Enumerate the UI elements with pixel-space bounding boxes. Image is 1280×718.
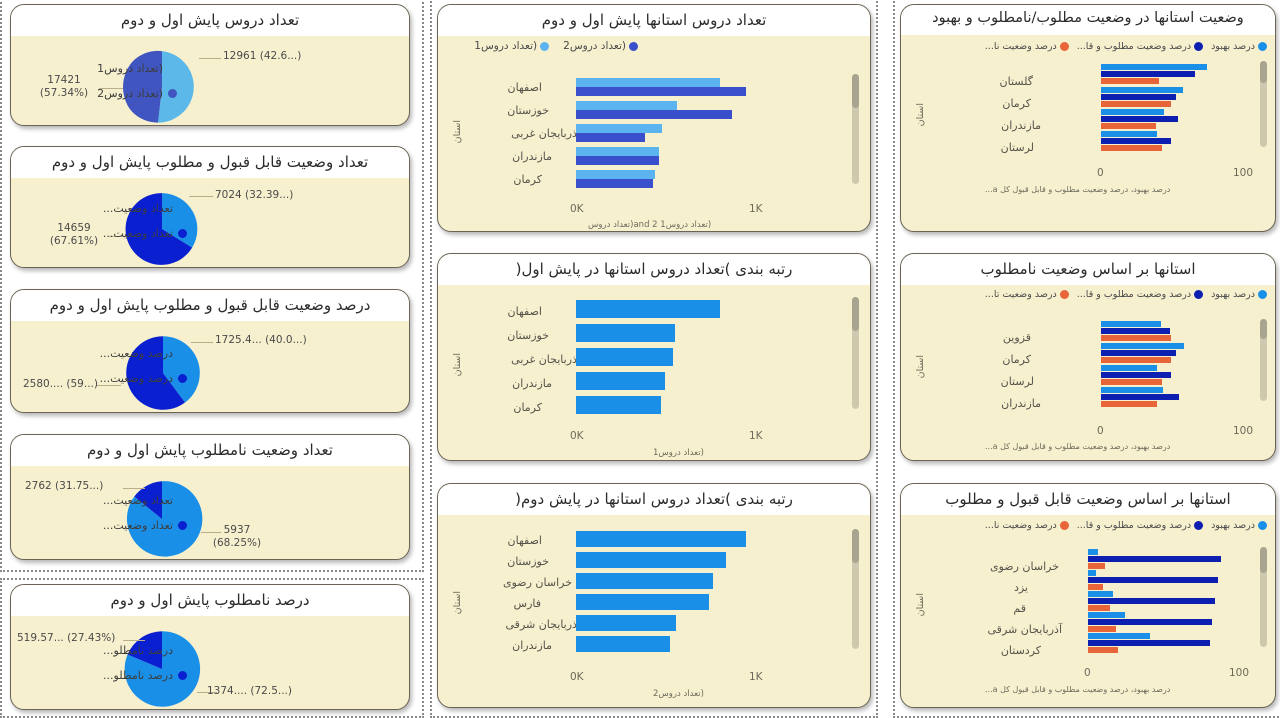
bar-favorable[interactable] bbox=[1088, 556, 1221, 562]
card-body: درصد بهبود درصد وضعیت مطلوب و قا... درصد… bbox=[901, 35, 1275, 209]
bar-unfavorable[interactable] bbox=[1088, 605, 1110, 611]
bar-item[interactable] bbox=[576, 531, 746, 547]
plot-area: قزوین کرمان لرستان مازندران bbox=[901, 321, 1276, 417]
card-title: رتبه بندی )تعداد دروس استانها در پایش دو… bbox=[438, 484, 870, 515]
card-body: 2762 (31.75...) 5937(68.25%) تعداد وضعیت… bbox=[11, 466, 409, 558]
pie-slice-callout-2: 17421(57.34%) bbox=[33, 74, 95, 100]
legend-item[interactable]: درصد نامطلو... bbox=[103, 669, 187, 682]
legend-item[interactable]: تعداد وضعیت... bbox=[103, 202, 187, 215]
x-axis-title: (تعداد دروس1 bbox=[653, 448, 704, 458]
bar-unfavorable[interactable] bbox=[1088, 584, 1103, 590]
legend-item[interactable]: درصد وضعیت مطلوب و قا... bbox=[1077, 41, 1203, 52]
category-label: خوزستان bbox=[507, 555, 549, 568]
category-label: خراسان رضوی bbox=[503, 576, 572, 589]
scrollbar-thumb[interactable] bbox=[852, 529, 859, 563]
card-pie-unfavorable-percent[interactable]: درصد نامطلوب پایش اول و دوم 519.57... (2… bbox=[10, 584, 410, 710]
scrollbar-thumb[interactable] bbox=[852, 297, 859, 331]
category-label: کرمان bbox=[1002, 97, 1031, 110]
plot-area: اصفهان خوزستان آذربایجان غربی مازندران ک… bbox=[438, 76, 871, 196]
card-body: (تعداد دروس2 (تعداد دروس1 استان اصفهان خ… bbox=[438, 36, 870, 230]
bar-item[interactable] bbox=[576, 324, 675, 342]
card-title: تعداد وضعیت نامطلوب پایش اول و دوم bbox=[11, 435, 409, 466]
legend-label: تعداد وضعیت... bbox=[103, 227, 173, 240]
vertical-scrollbar[interactable] bbox=[1260, 547, 1267, 647]
card-title: رتبه بندی )تعداد دروس استانها در پایش او… bbox=[438, 254, 870, 285]
x-tick-label: 0K bbox=[570, 430, 584, 442]
card-body: استان اصفهان خوزستان خراسان رضوی فارس آذ… bbox=[438, 515, 870, 706]
card-bar-rank-first-monitoring[interactable]: رتبه بندی )تعداد دروس استانها در پایش او… bbox=[437, 253, 871, 461]
bar-unfavorable[interactable] bbox=[1101, 335, 1171, 341]
legend-color-dot-light-blue bbox=[168, 64, 177, 73]
legend-item[interactable]: درصد وضعیت نا... bbox=[985, 520, 1069, 531]
bar-series1[interactable] bbox=[576, 78, 720, 87]
bar-favorable[interactable] bbox=[1101, 372, 1171, 378]
card-pie-acceptable-percent[interactable]: درصد وضعیت قابل قبول و مطلوب پایش اول و … bbox=[10, 289, 410, 413]
bar-series1[interactable] bbox=[576, 147, 659, 156]
legend-item[interactable]: درصد وضعیت تا... bbox=[985, 289, 1069, 300]
card-title: درصد وضعیت قابل قبول و مطلوب پایش اول و … bbox=[11, 290, 409, 321]
bar-item[interactable] bbox=[576, 615, 676, 631]
category-label: آذربایجان غربی bbox=[511, 127, 580, 140]
card-body: 519.57... (27.43%) 1374.... (72.5...) در… bbox=[11, 616, 409, 708]
legend-item[interactable]: (تعداد دروس1 bbox=[97, 62, 177, 75]
legend-label: درصد بهبود bbox=[1211, 289, 1255, 300]
category-label: کرمان bbox=[1002, 353, 1031, 366]
legend-label: درصد بهبود bbox=[1211, 520, 1255, 531]
legend-color-dot-blue bbox=[1258, 521, 1267, 530]
x-tick-label: 0K bbox=[570, 203, 584, 215]
category-label: لرستان bbox=[1001, 141, 1034, 154]
legend-color-dot-blue bbox=[178, 646, 187, 655]
legend-label: (تعداد دروس1 bbox=[474, 40, 537, 52]
category-label: خراسان رضوی bbox=[990, 560, 1059, 573]
category-label: مازندران bbox=[512, 639, 552, 652]
pie-slice-callout-2: 14659(67.61%) bbox=[43, 222, 105, 248]
card-bar-provinces-acceptable[interactable]: استانها بر اساس وضعیت قابل قبول و مطلوب … bbox=[900, 483, 1276, 708]
legend-color-dot-orange bbox=[1060, 290, 1069, 299]
bar-improve[interactable] bbox=[1101, 365, 1157, 371]
bar-series2[interactable] bbox=[576, 156, 659, 165]
category-label: اصفهان bbox=[508, 81, 542, 94]
legend-item[interactable]: (تعداد دروس2 bbox=[563, 40, 638, 52]
card-body: استان اصفهان خوزستان آذربایجان غربی مازن… bbox=[438, 285, 870, 459]
pie-slice-callout-2: 519.57... (27.43%) bbox=[17, 632, 115, 645]
bar-item[interactable] bbox=[576, 396, 661, 414]
legend-color-dot-blue bbox=[178, 349, 187, 358]
scrollbar-thumb[interactable] bbox=[1260, 319, 1267, 339]
category-label: کرمان bbox=[513, 401, 542, 414]
legend-label: درصد وضعیت... bbox=[100, 372, 173, 385]
card-body: 7024 (32.39...) 14659(67.61%) تعداد وضعی… bbox=[11, 178, 409, 266]
legend-label: درصد نامطلو... bbox=[103, 644, 173, 657]
category-label: اصفهان bbox=[508, 305, 542, 318]
category-label: خوزستان bbox=[507, 104, 549, 117]
plot-area: گلستان کرمان مازندران لرستان bbox=[901, 63, 1276, 159]
card-title: تعداد دروس پایش اول و دوم bbox=[11, 5, 409, 36]
pie-slice-callout-2: 2580.... (59...) bbox=[23, 378, 98, 391]
bar-series1[interactable] bbox=[576, 170, 655, 179]
card-bar-status-overview[interactable]: وضعیت استانها در وضعیت مطلوب/نامطلوب و ب… bbox=[900, 4, 1276, 232]
bar-favorable[interactable] bbox=[1101, 350, 1176, 356]
bar-item[interactable] bbox=[576, 636, 670, 652]
bar-favorable[interactable] bbox=[1101, 394, 1179, 400]
legend-item[interactable]: (تعداد دروس2 bbox=[97, 87, 177, 100]
vertical-scrollbar[interactable] bbox=[852, 74, 859, 184]
card-title: استانها بر اساس وضعیت قابل قبول و مطلوب bbox=[901, 484, 1275, 515]
bar-improve[interactable] bbox=[1101, 87, 1183, 93]
bar-unfavorable[interactable] bbox=[1101, 101, 1171, 107]
bar-improve[interactable] bbox=[1088, 612, 1125, 618]
card-body: درصد بهبود درصد وضعیت مطلوب و قا... درصد… bbox=[901, 515, 1275, 706]
pie-leader-line bbox=[123, 488, 145, 489]
plot-area: اصفهان خوزستان خراسان رضوی فارس آذربایجا… bbox=[438, 531, 871, 661]
category-label: آذربایجان غربی bbox=[511, 353, 580, 366]
pie-leader-line bbox=[123, 640, 145, 641]
category-label: قم bbox=[1013, 602, 1026, 615]
legend-label: تعداد وضعیت... bbox=[103, 494, 173, 507]
scrollbar-thumb[interactable] bbox=[1260, 61, 1267, 83]
card-bar-provinces-grouped[interactable]: تعداد دروس استانها پایش اول و دوم (تعداد… bbox=[437, 4, 871, 232]
x-tick-label: 0K bbox=[570, 671, 584, 683]
bar-improve[interactable] bbox=[1101, 109, 1164, 115]
bar-series2[interactable] bbox=[576, 133, 645, 142]
pie-leader-line bbox=[199, 58, 221, 59]
chart-legend[interactable]: درصد بهبود درصد وضعیت مطلوب و قا... درصد… bbox=[901, 515, 1275, 531]
legend-color-dot-navy bbox=[1194, 290, 1203, 299]
legend-item[interactable]: درصد بهبود bbox=[1211, 520, 1267, 531]
bar-favorable[interactable] bbox=[1101, 328, 1170, 334]
pie-slice-callout-1: 7024 (32.39...) bbox=[215, 189, 293, 202]
chart-legend[interactable]: (تعداد دروس2 (تعداد دروس1 bbox=[438, 36, 870, 52]
category-label: کردستان bbox=[1001, 644, 1041, 657]
legend-label: تعداد وضعیت... bbox=[103, 202, 173, 215]
bar-unfavorable[interactable] bbox=[1101, 401, 1157, 407]
x-tick-label: 1K bbox=[749, 671, 763, 683]
x-tick-label: 1K bbox=[749, 430, 763, 442]
pie-slice-callout-1: 5937(68.25%) bbox=[207, 524, 267, 550]
bar-unfavorable[interactable] bbox=[1088, 563, 1105, 569]
legend-color-dot-blue bbox=[1258, 290, 1267, 299]
scrollbar-thumb[interactable] bbox=[1260, 547, 1267, 573]
bar-improve[interactable] bbox=[1088, 591, 1113, 597]
card-pie-total-courses[interactable]: تعداد دروس پایش اول و دوم 12961 (42.6...… bbox=[10, 4, 410, 126]
bar-favorable[interactable] bbox=[1088, 598, 1215, 604]
legend-color-dot-orange bbox=[1060, 42, 1069, 51]
legend-label: درصد وضعیت نا... bbox=[985, 41, 1057, 52]
x-tick-label: 100 bbox=[1229, 667, 1249, 679]
legend-item[interactable]: تعداد وضعیت... bbox=[103, 494, 187, 507]
bar-improve[interactable] bbox=[1101, 321, 1161, 327]
card-body: 12961 (42.6...) 17421(57.34%) (تعداد درو… bbox=[11, 36, 409, 124]
legend-color-dot-navy bbox=[1194, 42, 1203, 51]
card-body: 1725.4... (40.0...) 2580.... (59...) درص… bbox=[11, 321, 409, 411]
legend-color-dot-navy bbox=[1194, 521, 1203, 530]
card-title: درصد نامطلوب پایش اول و دوم bbox=[11, 585, 409, 616]
x-axis-title: درصد بهبود، درصد وضعیت مطلوب و قابل قبول… bbox=[985, 685, 1170, 694]
x-tick-label: 1K bbox=[749, 203, 763, 215]
legend-label: درصد وضعیت نا... bbox=[985, 520, 1057, 531]
card-bar-rank-second-monitoring[interactable]: رتبه بندی )تعداد دروس استانها در پایش دو… bbox=[437, 483, 871, 708]
legend-label: (تعداد دروس2 bbox=[563, 40, 626, 52]
card-title: استانها بر اساس وضعیت نامطلوب bbox=[901, 254, 1275, 285]
bar-series2[interactable] bbox=[576, 110, 732, 119]
bar-unfavorable[interactable] bbox=[1101, 145, 1162, 151]
bar-series2[interactable] bbox=[576, 179, 653, 188]
bar-unfavorable[interactable] bbox=[1101, 379, 1162, 385]
legend-item[interactable]: درصد وضعیت نا... bbox=[985, 41, 1069, 52]
bar-favorable[interactable] bbox=[1101, 71, 1195, 77]
x-tick-label: 0 bbox=[1097, 425, 1104, 437]
category-label: گلستان bbox=[1000, 75, 1033, 88]
bar-improve[interactable] bbox=[1101, 343, 1184, 349]
bar-improve[interactable] bbox=[1088, 633, 1150, 639]
legend-color-dot-deep-blue bbox=[178, 229, 187, 238]
legend-item[interactable]: درصد وضعیت... bbox=[100, 372, 187, 385]
legend-color-dot-light-blue bbox=[540, 42, 549, 51]
legend-item[interactable]: تعداد وضعیت... bbox=[103, 519, 187, 532]
category-label: فارس bbox=[514, 597, 541, 610]
dashboard-canvas: تعداد دروس پایش اول و دوم 12961 (42.6...… bbox=[0, 0, 1280, 716]
bar-unfavorable[interactable] bbox=[1088, 647, 1118, 653]
bar-unfavorable[interactable] bbox=[1101, 123, 1156, 129]
chart-legend[interactable]: درصد بهبود درصد وضعیت مطلوب و قا... درصد… bbox=[901, 35, 1275, 52]
bar-improve[interactable] bbox=[1101, 64, 1207, 70]
bar-unfavorable[interactable] bbox=[1088, 626, 1116, 632]
bar-favorable[interactable] bbox=[1088, 640, 1210, 646]
pie-leader-line bbox=[189, 196, 213, 197]
vertical-scrollbar[interactable] bbox=[852, 297, 859, 409]
vertical-scrollbar[interactable] bbox=[1260, 61, 1267, 147]
x-axis-title: (تعداد دروس1 and 2(تعداد دروس bbox=[588, 220, 711, 230]
category-label: آذربایجان شرقی bbox=[988, 623, 1062, 636]
category-label: اصفهان bbox=[508, 534, 542, 547]
pie-legend[interactable]: تعداد وضعیت... تعداد وضعیت... bbox=[103, 202, 187, 240]
x-tick-label: 100 bbox=[1233, 425, 1253, 437]
bar-item[interactable] bbox=[576, 594, 709, 610]
pie-legend[interactable]: (تعداد دروس1 (تعداد دروس2 bbox=[97, 62, 177, 100]
legend-color-dot-orange bbox=[1060, 521, 1069, 530]
legend-item[interactable]: (تعداد دروس1 bbox=[474, 40, 549, 52]
legend-label: درصد وضعیت مطلوب و قا... bbox=[1077, 41, 1191, 52]
legend-item[interactable]: درصد بهبود bbox=[1211, 289, 1267, 300]
category-label: کرمان bbox=[513, 173, 542, 186]
bar-improve[interactable] bbox=[1101, 131, 1157, 137]
bar-series2[interactable] bbox=[576, 87, 746, 96]
plot-area: اصفهان خوزستان آذربایجان غربی مازندران ک… bbox=[438, 299, 871, 421]
card-title: وضعیت استانها در وضعیت مطلوب/نامطلوب و ب… bbox=[901, 5, 1275, 35]
bar-improve[interactable] bbox=[1101, 387, 1163, 393]
card-body: درصد بهبود درصد وضعیت مطلوب و قا... درصد… bbox=[901, 285, 1275, 459]
bar-item[interactable] bbox=[576, 348, 673, 366]
bar-unfavorable[interactable] bbox=[1101, 78, 1159, 84]
pie-slice-callout-2: 2762 (31.75...) bbox=[25, 480, 103, 493]
category-label: مازندران bbox=[1001, 119, 1041, 132]
legend-item[interactable]: تعداد وضعیت... bbox=[103, 227, 187, 240]
legend-color-dot-indigo bbox=[168, 89, 177, 98]
pie-legend[interactable]: درصد نامطلو... درصد نامطلو... bbox=[103, 644, 187, 682]
bar-item[interactable] bbox=[576, 300, 720, 318]
scrollbar-thumb[interactable] bbox=[852, 74, 859, 108]
pie-legend[interactable]: تعداد وضعیت... تعداد وضعیت... bbox=[103, 494, 187, 532]
legend-label: درصد وضعیت مطلوب و قا... bbox=[1077, 289, 1191, 300]
bar-favorable[interactable] bbox=[1101, 116, 1178, 122]
bar-item[interactable] bbox=[576, 372, 665, 390]
legend-item[interactable]: درصد وضعیت مطلوب و قا... bbox=[1077, 289, 1203, 300]
bar-favorable[interactable] bbox=[1101, 138, 1171, 144]
card-title: تعداد دروس استانها پایش اول و دوم bbox=[438, 5, 870, 36]
x-tick-label: 0 bbox=[1097, 167, 1104, 179]
legend-label: درصد بهبود bbox=[1211, 41, 1255, 52]
legend-label: (تعداد دروس2 bbox=[97, 87, 163, 100]
legend-label: (تعداد دروس1 bbox=[97, 62, 163, 75]
bar-series1[interactable] bbox=[576, 101, 677, 110]
bar-item[interactable] bbox=[576, 573, 713, 589]
plot-area: خراسان رضوی یزد قم آذربایجان شرقی bbox=[901, 549, 1276, 659]
bar-favorable[interactable] bbox=[1101, 94, 1176, 100]
legend-item[interactable]: درصد بهبود bbox=[1211, 41, 1267, 52]
category-label: مازندران bbox=[512, 377, 552, 390]
pie-slice-callout-1: 1374.... (72.5...) bbox=[207, 685, 292, 698]
card-pie-acceptable-count[interactable]: تعداد وضعیت قابل قبول و مطلوب پایش اول و… bbox=[10, 146, 410, 268]
x-axis-title: درصد بهبود، درصد وضعیت مطلوب و قابل قبول… bbox=[985, 185, 1170, 194]
category-label: یزد bbox=[1014, 581, 1028, 594]
bar-item[interactable] bbox=[576, 552, 726, 568]
legend-label: تعداد وضعیت... bbox=[103, 519, 173, 532]
bar-unfavorable[interactable] bbox=[1101, 357, 1171, 363]
category-label: خوزستان bbox=[507, 329, 549, 342]
bar-improve[interactable] bbox=[1088, 549, 1098, 555]
chart-legend[interactable]: درصد بهبود درصد وضعیت مطلوب و قا... درصد… bbox=[901, 285, 1275, 300]
pie-legend[interactable]: درصد وضعیت... درصد وضعیت... bbox=[100, 347, 187, 385]
bar-favorable[interactable] bbox=[1088, 619, 1212, 625]
legend-color-dot-deep-blue bbox=[178, 671, 187, 680]
category-label: قزوین bbox=[1003, 331, 1031, 344]
legend-color-dot-deep-blue bbox=[178, 521, 187, 530]
card-pie-unfavorable-count[interactable]: تعداد وضعیت نامطلوب پایش اول و دوم 2762 … bbox=[10, 434, 410, 560]
legend-label: درصد نامطلو... bbox=[103, 669, 173, 682]
pie-slice-callout-1: 12961 (42.6...) bbox=[223, 50, 301, 63]
vertical-scrollbar[interactable] bbox=[852, 529, 859, 649]
card-title: تعداد وضعیت قابل قبول و مطلوب پایش اول و… bbox=[11, 147, 409, 178]
card-bar-provinces-unfavorable[interactable]: استانها بر اساس وضعیت نامطلوب درصد بهبود… bbox=[900, 253, 1276, 461]
vertical-scrollbar[interactable] bbox=[1260, 319, 1267, 401]
bar-series1[interactable] bbox=[576, 124, 662, 133]
legend-label: درصد وضعیت... bbox=[100, 347, 173, 360]
bar-improve[interactable] bbox=[1088, 570, 1096, 576]
category-label: مازندران bbox=[512, 150, 552, 163]
legend-item[interactable]: درصد وضعیت مطلوب و قا... bbox=[1077, 520, 1203, 531]
category-label: لرستان bbox=[1001, 375, 1034, 388]
x-axis-title: درصد بهبود، درصد وضعیت مطلوب و قابل قبول… bbox=[985, 442, 1170, 451]
x-tick-label: 100 bbox=[1233, 167, 1253, 179]
legend-item[interactable]: درصد وضعیت... bbox=[100, 347, 187, 360]
legend-color-dot-indigo bbox=[629, 42, 638, 51]
pie-leader-line bbox=[97, 385, 121, 386]
legend-label: درصد وضعیت تا... bbox=[985, 289, 1057, 300]
legend-color-dot-deep-blue bbox=[178, 374, 187, 383]
bar-favorable[interactable] bbox=[1088, 577, 1218, 583]
legend-label: درصد وضعیت مطلوب و قا... bbox=[1077, 520, 1191, 531]
x-axis-title: (تعداد دروس2 bbox=[653, 689, 704, 699]
x-tick-label: 0 bbox=[1084, 667, 1091, 679]
legend-item[interactable]: درصد نامطلو... bbox=[103, 644, 187, 657]
legend-color-dot-blue bbox=[1258, 42, 1267, 51]
category-label: آذربایجان شرقی bbox=[506, 618, 580, 631]
pie-slice-callout-1: 1725.4... (40.0...) bbox=[215, 334, 307, 347]
pie-leader-line bbox=[191, 342, 213, 343]
category-label: مازندران bbox=[1001, 397, 1041, 410]
legend-color-dot-blue bbox=[178, 204, 187, 213]
legend-color-dot-blue bbox=[178, 496, 187, 505]
